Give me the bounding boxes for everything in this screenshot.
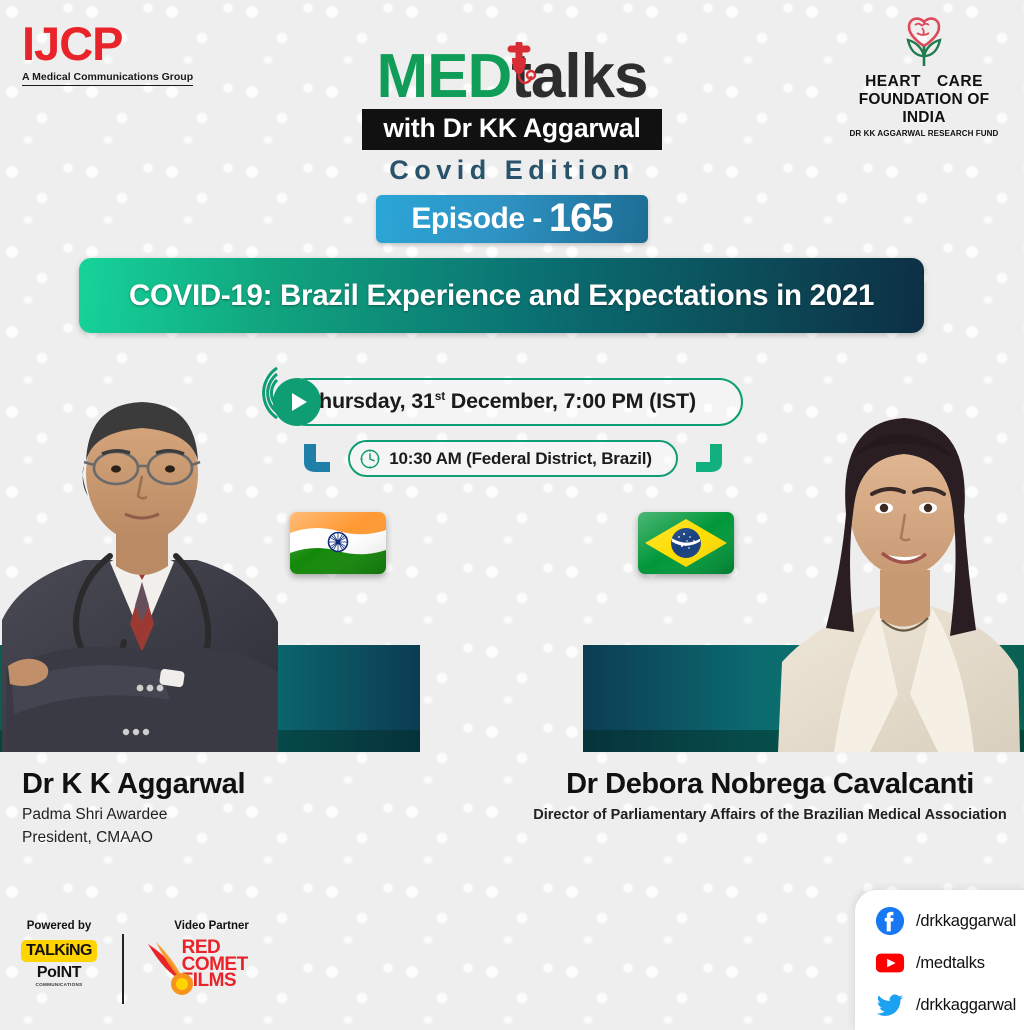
session-title-text: COVID-19: Brazil Experience and Expectat… <box>129 279 874 313</box>
medtalks-wordmark: MEDtalks <box>362 48 662 107</box>
local-time-pill: 10:30 AM (Federal District, Brazil) <box>348 440 678 477</box>
speaker-role-line-2: President, CMAAO <box>22 829 245 847</box>
medtalks-edition-text: Covid Edition <box>362 155 662 186</box>
hcfi-line-2: FOUNDATION OF INDIA <box>838 91 1010 127</box>
comet-icon <box>142 940 198 1000</box>
ijcp-tagline: A Medical Communications Group <box>22 71 193 86</box>
powered-by-block: Powered by TALKiNG PoINT COMMUNICATIONS <box>18 920 100 987</box>
quote-left-decoration <box>300 442 338 476</box>
medtalks-med-text: MED <box>376 42 511 111</box>
talking-point-word-1: TALKiNG <box>21 940 97 962</box>
youtube-handle[interactable]: /medtalks <box>916 954 985 973</box>
india-flag <box>290 512 386 574</box>
ijcp-wordmark: IJCP <box>22 22 202 67</box>
twitter-icon[interactable] <box>875 990 905 1020</box>
heart-flower-icon <box>891 16 957 70</box>
stethoscope-icon <box>499 42 539 88</box>
twitter-handle[interactable]: /drkkaggarwal <box>916 996 1016 1015</box>
hcfi-heart-word: HEART <box>865 73 921 90</box>
video-partner-label: Video Partner <box>146 920 278 932</box>
speaker-photo-left <box>0 370 292 752</box>
powered-by-label: Powered by <box>18 920 100 932</box>
date-text: Thursday, 31st December, 7:00 PM (IST) <box>285 389 741 414</box>
speaker-role-line-1: Padma Shri Awardee <box>22 806 245 824</box>
video-partner-block: Video Partner RED COMET FILMS <box>146 920 278 1012</box>
speaker-info-right: Dr Debora Nobrega Cavalcanti Director of… <box>520 768 1020 823</box>
hcfi-line-3: DR KK AGGARWAL RESEARCH FUND <box>838 129 1010 138</box>
speaker-name: Dr Debora Nobrega Cavalcanti <box>520 768 1020 801</box>
social-row-twitter[interactable]: /drkkaggarwal <box>875 990 1024 1020</box>
speaker-info-left: Dr K K Aggarwal Padma Shri Awardee Presi… <box>22 768 245 847</box>
heart-care-foundation-logo: HEARTCARE FOUNDATION OF INDIA DR KK AGGA… <box>838 16 1010 138</box>
facebook-icon[interactable] <box>875 906 905 936</box>
sponsors-bar: Powered by TALKiNG PoINT COMMUNICATIONS … <box>18 920 278 1012</box>
date-pill: Thursday, 31st December, 7:00 PM (IST) <box>283 378 743 426</box>
ijcp-logo: IJCP A Medical Communications Group <box>22 22 202 86</box>
episode-badge: Episode - 165 <box>376 195 648 243</box>
brazil-flag <box>638 512 734 574</box>
talking-point-logo: TALKiNG PoINT COMMUNICATIONS <box>18 940 100 987</box>
talking-point-word-2: PoINT <box>18 964 100 982</box>
clock-icon <box>359 448 381 470</box>
quote-right-decoration <box>688 442 726 476</box>
talking-point-subtitle: COMMUNICATIONS <box>18 982 100 987</box>
hcfi-care-word: CARE <box>937 73 983 90</box>
date-ordinal: st <box>435 389 445 403</box>
social-links-panel: /drkkaggarwal /medtalks /drkkaggarwal <box>855 890 1024 1030</box>
medtalks-logo: MEDtalks with Dr KK Aggarwal Covid Editi… <box>362 48 662 243</box>
local-time-text: 10:30 AM (Federal District, Brazil) <box>381 449 676 469</box>
episode-number: 165 <box>549 196 613 241</box>
date-suffix: December, 7:00 PM (IST) <box>445 390 696 414</box>
facebook-handle[interactable]: /drkkaggarwal <box>916 912 1016 931</box>
speaker-photo-right <box>760 374 1024 752</box>
sponsor-divider <box>122 934 124 1004</box>
youtube-icon[interactable] <box>875 948 905 978</box>
medtalks-host-bar: with Dr KK Aggarwal <box>362 109 662 150</box>
speaker-name: Dr K K Aggarwal <box>22 768 245 801</box>
episode-label: Episode - <box>411 202 542 236</box>
hcfi-line-1: HEARTCARE <box>838 73 1010 91</box>
session-title-banner: COVID-19: Brazil Experience and Expectat… <box>79 258 924 333</box>
speaker-role-line-1: Director of Parliamentary Affairs of the… <box>520 807 1020 823</box>
social-row-youtube[interactable]: /medtalks <box>875 948 1024 978</box>
date-prefix: Thursday, 31 <box>306 390 435 414</box>
social-row-facebook[interactable]: /drkkaggarwal <box>875 906 1024 936</box>
